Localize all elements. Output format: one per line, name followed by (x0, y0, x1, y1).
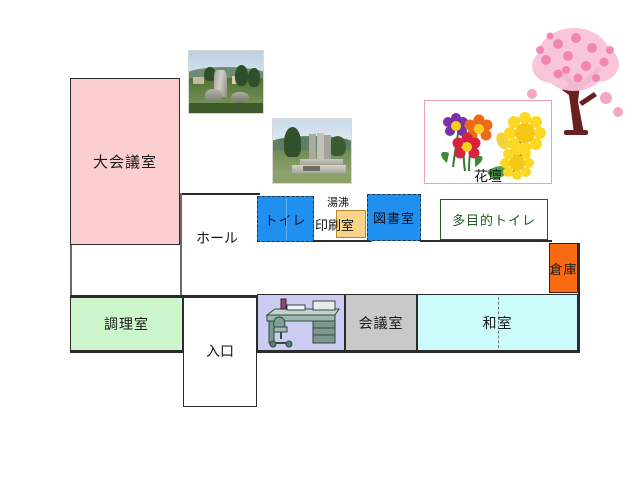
wall-hall-top (180, 193, 260, 195)
room-storage[interactable]: 倉庫 (549, 243, 578, 293)
wall-bottom (70, 351, 580, 353)
room-label-large-meeting-room: 大会議室 (93, 151, 157, 172)
toilet-divider (286, 198, 287, 240)
monument-photo-right (272, 118, 352, 184)
room-office[interactable] (257, 294, 345, 351)
wall-left-vertical (70, 245, 72, 299)
monument-photo-left (188, 50, 264, 114)
wall-mid-lower (314, 240, 372, 242)
room-label-kitchen: 調理室 (104, 314, 149, 334)
room-kitchen[interactable]: 調理室 (70, 297, 183, 351)
room-label-japanese-room: 和室 (483, 313, 513, 333)
room-label-print-room: 印刷室 (315, 215, 354, 234)
office-desk-icon (261, 297, 341, 349)
room-label-library: 図書室 (373, 208, 415, 227)
room-meeting-room[interactable]: 会議室 (345, 294, 417, 351)
room-label-hot-water: 湯沸 (327, 194, 349, 210)
floor-plan-canvas: 大会議室 ホール トイレ 湯沸 印刷室 図書室 多目的トイレ 花壇 倉庫 調理室… (0, 0, 640, 480)
room-japanese-room[interactable]: 和室 (417, 294, 578, 351)
wall-right-vertical (578, 243, 580, 353)
room-label-hall: ホール (196, 228, 238, 248)
room-multi-purpose-toilet[interactable]: 多目的トイレ (440, 199, 548, 240)
room-label-storage: 倉庫 (550, 259, 578, 278)
room-toilet[interactable]: トイレ (257, 196, 314, 242)
room-label-entrance: 入口 (206, 341, 234, 361)
room-label-multi-purpose-toilet: 多目的トイレ (452, 210, 536, 229)
wall-mid-right (420, 240, 552, 242)
room-large-meeting-room[interactable]: 大会議室 (70, 78, 180, 245)
room-label-meeting-room: 会議室 (359, 313, 404, 333)
room-library[interactable]: 図書室 (367, 194, 421, 241)
wall-hall-left-vertical (180, 193, 182, 297)
label-flower-bed: 花壇 (474, 166, 502, 186)
